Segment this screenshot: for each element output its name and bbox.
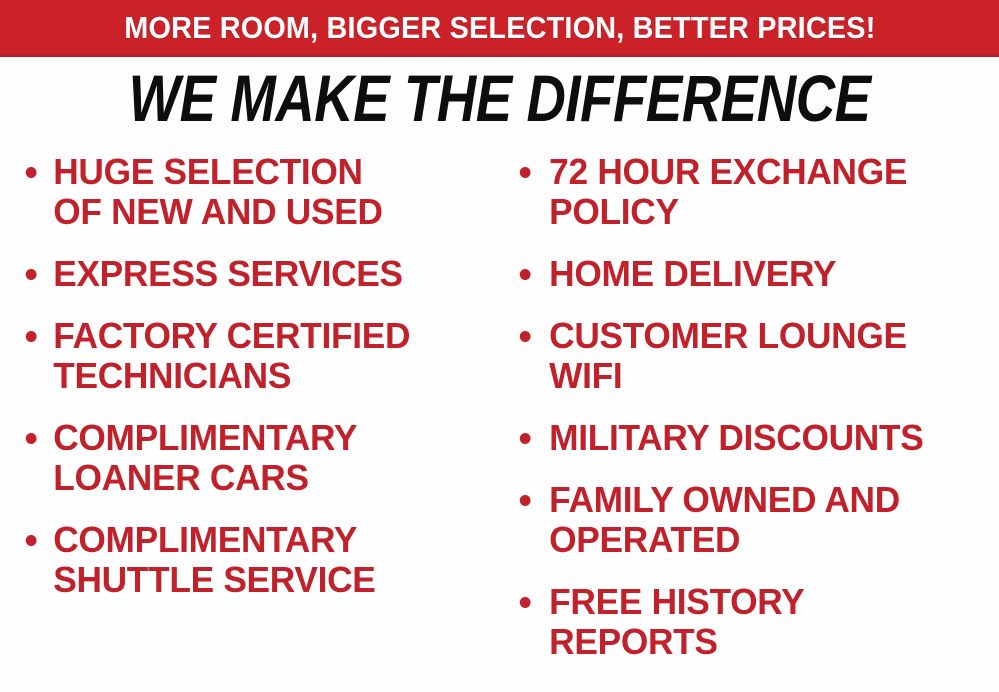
headline-container: WE MAKE THE DIFFERENCE — [0, 62, 999, 138]
top-promo-strip-text: MORE ROOM, BIGGER SELECTION, BETTER PRIC… — [124, 12, 875, 43]
feature-list-right: 72 HOUR EXCHANGE POLICY HOME DELIVERY CU… — [508, 152, 999, 662]
list-item: EXPRESS SERVICES — [14, 254, 490, 294]
list-item-label: HOME DELIVERY — [549, 254, 989, 294]
bullet-dot-icon — [520, 269, 531, 280]
bullet-dot-icon — [26, 331, 37, 342]
bullet-dot-icon — [520, 495, 531, 506]
list-item: HUGE SELECTION OF NEW AND USED — [14, 152, 490, 232]
bullet-dot-icon — [26, 269, 37, 280]
list-item-label: FACTORY CERTIFIED TECHNICIANS — [53, 316, 490, 396]
top-promo-strip: MORE ROOM, BIGGER SELECTION, BETTER PRIC… — [0, 0, 999, 57]
bullet-dot-icon — [520, 433, 531, 444]
bullet-dot-icon — [26, 535, 37, 546]
list-item-label: COMPLIMENTARY SHUTTLE SERVICE — [53, 520, 490, 600]
list-item: COMPLIMENTARY LOANER CARS — [14, 418, 490, 498]
features-column-right: 72 HOUR EXCHANGE POLICY HOME DELIVERY CU… — [500, 152, 999, 662]
list-item-label: FAMILY OWNED AND OPERATED — [549, 480, 989, 560]
bullet-dot-icon — [520, 331, 531, 342]
bullet-dot-icon — [26, 167, 37, 178]
list-item-label: 72 HOUR EXCHANGE POLICY — [549, 152, 989, 232]
list-item: MILITARY DISCOUNTS — [508, 418, 989, 458]
headline-text: WE MAKE THE DIFFERENCE — [128, 67, 870, 133]
promotional-banner: MORE ROOM, BIGGER SELECTION, BETTER PRIC… — [0, 0, 999, 692]
list-item-label: EXPRESS SERVICES — [53, 254, 490, 294]
list-item: FAMILY OWNED AND OPERATED — [508, 480, 989, 560]
list-item: FACTORY CERTIFIED TECHNICIANS — [14, 316, 490, 396]
list-item: COMPLIMENTARY SHUTTLE SERVICE — [14, 520, 490, 600]
list-item-label: FREE HISTORY REPORTS — [549, 582, 989, 662]
bullet-dot-icon — [520, 167, 531, 178]
list-item: HOME DELIVERY — [508, 254, 989, 294]
bullet-dot-icon — [520, 597, 531, 608]
list-item: 72 HOUR EXCHANGE POLICY — [508, 152, 989, 232]
list-item-label: CUSTOMER LOUNGE WIFI — [549, 316, 989, 396]
list-item-label: HUGE SELECTION OF NEW AND USED — [53, 152, 490, 232]
list-item: CUSTOMER LOUNGE WIFI — [508, 316, 989, 396]
list-item-label: MILITARY DISCOUNTS — [549, 418, 989, 458]
list-item-label: COMPLIMENTARY LOANER CARS — [53, 418, 490, 498]
feature-list-left: HUGE SELECTION OF NEW AND USED EXPRESS S… — [14, 152, 500, 600]
bullet-dot-icon — [26, 433, 37, 444]
list-item: FREE HISTORY REPORTS — [508, 582, 989, 662]
features-column-left: HUGE SELECTION OF NEW AND USED EXPRESS S… — [0, 152, 500, 600]
features-columns: HUGE SELECTION OF NEW AND USED EXPRESS S… — [0, 152, 999, 692]
